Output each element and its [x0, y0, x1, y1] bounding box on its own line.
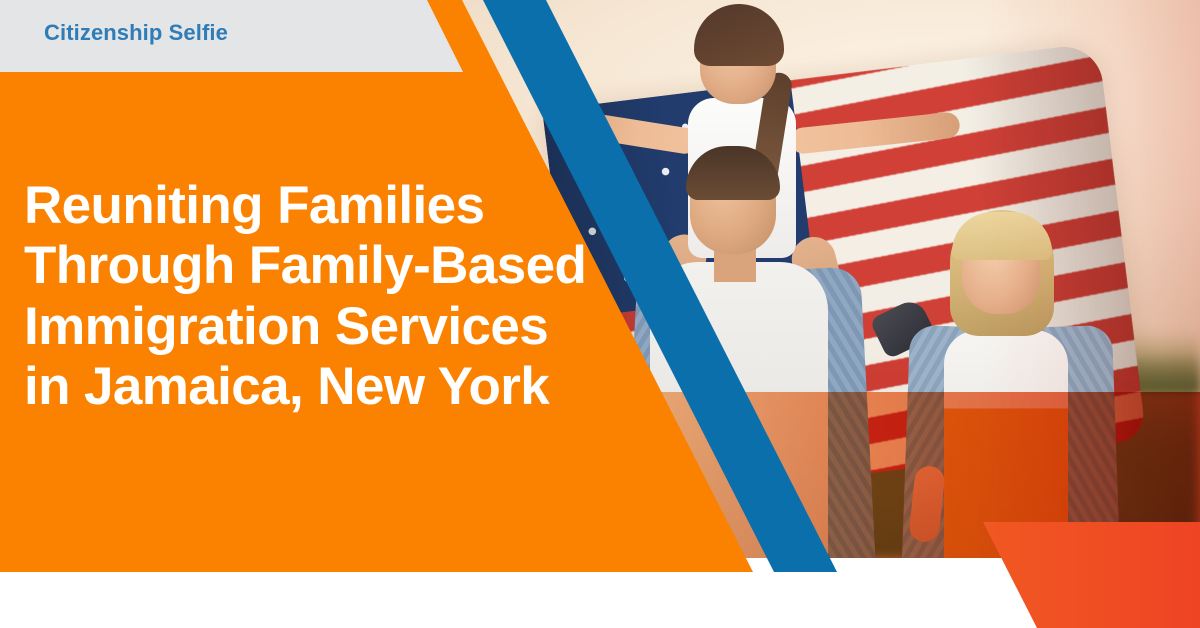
page-title: Reuniting Families Through Family-Based … [24, 176, 644, 418]
headline-line-4: in Jamaica, New York [24, 357, 644, 417]
headline-line-2: Through Family-Based [24, 236, 644, 296]
brand-name: Citizenship Selfie [44, 22, 228, 44]
headline-line-3: Immigration Services [24, 297, 644, 357]
headline-line-1: Reuniting Families [24, 176, 644, 236]
promotional-banner: Citizenship Selfie Reuniting Families Th… [0, 0, 1200, 628]
